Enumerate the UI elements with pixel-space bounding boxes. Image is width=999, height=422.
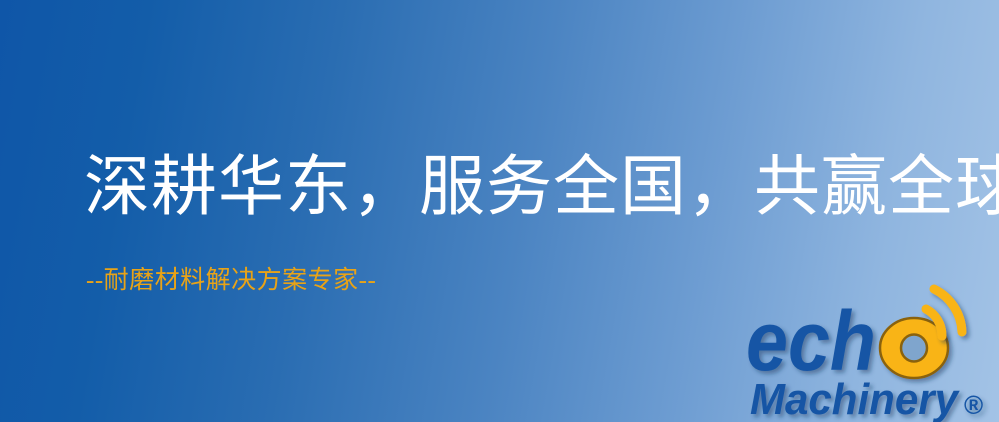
banner-subtitle: --耐磨材料解决方案专家-- — [86, 266, 376, 296]
logo-text-ech: ech — [746, 294, 876, 388]
logo-artwork: ech Machinery ® — [746, 292, 994, 422]
banner-headline: 深耕华东，服务全国，共赢全球 — [84, 152, 999, 224]
logo-registered-mark: ® — [964, 390, 983, 420]
promo-banner: 深耕华东，服务全国，共赢全球 --耐磨材料解决方案专家-- ech Mac — [0, 0, 999, 422]
echo-machinery-logo[interactable]: ech Machinery ® — [746, 292, 994, 422]
logo-text-machinery: Machinery — [750, 375, 960, 422]
